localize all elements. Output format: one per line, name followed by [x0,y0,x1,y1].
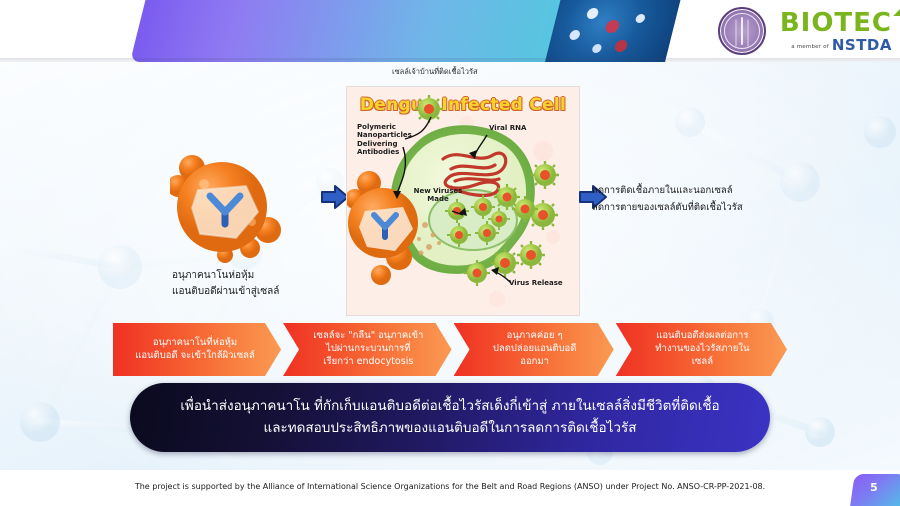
molecule-node [586,8,600,19]
process-step-1-line1: อนุภาคนาโนที่ห่อหุ้ม [135,337,255,350]
biotec-wordmark: BIOTEC [780,10,892,36]
molecule-node [635,14,646,23]
slide-header: BIOTEC a member of NSTDA [0,0,900,62]
member-of-label: a member of [791,45,829,53]
biotec-logo: BIOTEC a member of NSTDA [780,10,892,53]
process-step-3-line3: ออกมา [493,356,577,369]
page-number-value: 5 [848,481,900,494]
process-step-2-line2: ไปผ่านกระบวนการที่ [313,343,423,356]
process-step-1[interactable]: อนุภาคนาโนที่ห่อหุ้ม แอนติบอดี จะเข้าใกล… [113,323,281,376]
process-step-2-line3: เรียกว่า endocytosis [313,356,423,369]
nstda-wordmark: NSTDA [832,38,892,53]
left-caption-line1: อนุภาคนาโนห่อหุ้ม [172,268,279,284]
logo-area: BIOTEC a member of NSTDA [718,0,892,62]
molecule-node [604,20,620,33]
process-step-4-line1: แอนติบอดีส่งผลต่อการ [655,330,749,343]
molecule-node [613,40,628,52]
dengue-infected-cell-figure: Dengue Infected Cell [346,86,580,316]
right-caption-line1: ลดการติดเชื้อภายในและนอกเซลล์ [592,183,743,200]
figure-label-new-viruses: New Viruses Made [409,187,467,204]
footer-credit: The project is supported by the Alliance… [0,482,900,491]
molecule-node [568,30,580,40]
left-caption: อนุภาคนาโนห่อหุ้ม แอนติบอดีผ่านเข้าสู่เซ… [172,268,279,299]
biotec-subline: a member of NSTDA [791,38,892,53]
right-caption: ลดการติดเชื้อภายในและนอกเซลล์ ลดการตายขอ… [592,183,743,216]
process-step-4-line3: เซลล์ [655,356,749,369]
nanoparticle-illustration [170,152,300,272]
biotec-swoosh-icon [893,1,900,16]
process-step-3[interactable]: อนุภาคค่อย ๆ ปลดปล่อยแอนติบอดี ออกมา [454,323,614,376]
figure-top-caption: เซลล์เจ้าบ้านที่ติดเชื้อไวรัส [392,66,478,78]
figure-label-polymeric: Polymeric Nanoparticles Delivering Antib… [357,123,421,156]
page-number-badge: 5 [848,468,900,506]
process-chevron-band: อนุภาคนาโนที่ห่อหุ้ม แอนติบอดี จะเข้าใกล… [113,323,787,376]
right-caption-line2: ลดการตายของเซลล์ตับที่ติดเชื้อไวรัส [592,200,743,217]
process-step-2-line1: เซลล์จะ "กลืน" อนุภาคเข้า [313,330,423,343]
conclusion-banner: เพื่อนำส่งอนุภาคนาโน ที่กักเก็บแอนติบอดี… [130,383,770,452]
process-step-4-line2: ทำงานของไวรัสภายใน [655,343,749,356]
left-caption-line2: แอนติบอดีผ่านเข้าสู่เซลล์ [172,284,279,300]
process-step-4[interactable]: แอนติบอดีส่งผลต่อการ ทำงานของไวรัสภายใน … [616,323,787,376]
conclusion-line1: เพื่อนำส่งอนุภาคนาโน ที่กักเก็บแอนติบอดี… [180,396,719,418]
conclusion-line2: และทดสอบประสิทธิภาพของแอนติบอดีในการลดกา… [264,418,637,440]
header-molecule-photo [545,0,680,62]
process-step-3-line2: ปลดปล่อยแอนติบอดี [493,343,577,356]
molecule-node [591,44,602,53]
figure-label-viral-rna: Viral RNA [489,124,526,132]
process-step-2[interactable]: เซลล์จะ "กลืน" อนุภาคเข้า ไปผ่านกระบวนกา… [283,323,452,376]
figure-label-virus-release: Virus Release [509,279,563,287]
process-step-3-line1: อนุภาคค่อย ๆ [493,330,577,343]
slide-canvas: BIOTEC a member of NSTDA เซลล์เจ้าบ้านที… [0,0,900,506]
process-step-1-line2: แอนติบอดี จะเข้าใกล้ผิวเซลล์ [135,350,255,363]
university-seal-icon [718,7,766,55]
